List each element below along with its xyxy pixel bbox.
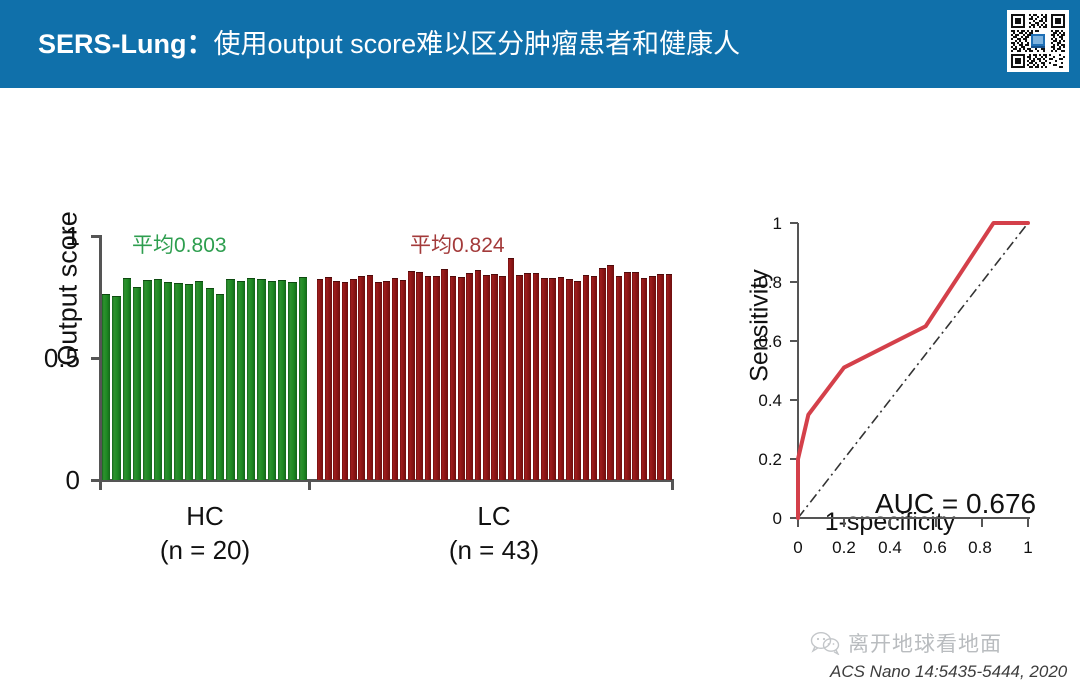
roc-chance-diagonal	[798, 223, 1028, 518]
bar-lc-26	[533, 273, 540, 480]
bar-lc-17	[458, 277, 465, 480]
bar-lc-29	[558, 277, 565, 480]
watermark-row: 离开地球看地面	[810, 628, 1002, 658]
bar-lc-20	[483, 275, 490, 480]
bar-ytick-label-1: 1	[40, 221, 80, 252]
bar-lc-12	[416, 272, 423, 480]
group-label-hc: HC (n = 20)	[102, 499, 308, 567]
bar-lc-30	[566, 279, 573, 480]
bar-lc-9	[392, 278, 399, 480]
wechat-icon	[810, 631, 840, 655]
bar-lc-14	[433, 276, 440, 480]
bar-lc-36	[616, 276, 623, 480]
bar-chart-plot-area	[101, 235, 673, 480]
header-banner: SERS-Lung：使用output score难以区分肿瘤患者和健康人	[0, 0, 1080, 88]
mean-label-hc: 平均0.803	[132, 229, 227, 259]
bar-lc-15	[441, 269, 448, 480]
bar-lc-38	[632, 272, 639, 480]
bar-lc-21	[491, 274, 498, 480]
bar-ytick-mark-1	[91, 235, 100, 238]
page-title-kicker: SERS-Lung：	[38, 29, 214, 59]
bar-hc-5	[154, 279, 162, 480]
bar-hc-11	[216, 294, 224, 480]
bar-lc-28	[549, 278, 556, 480]
bar-hc-1	[112, 296, 120, 480]
bar-hc-0	[102, 294, 110, 480]
bar-lc-41	[657, 274, 664, 480]
bar-hc-3	[133, 287, 141, 480]
bar-hc-12	[226, 279, 234, 480]
bar-lc-2	[333, 281, 340, 480]
bar-lc-23	[508, 258, 515, 480]
qr-code-image	[1009, 12, 1067, 70]
group-label-hc-count: (n = 20)	[102, 533, 308, 567]
bar-lc-13	[425, 276, 432, 480]
bar-xtick-mark-left	[99, 479, 102, 490]
roc-curve-chart: Sensitivity 1-specificity 1 0.8 0.6 0.4 …	[700, 143, 1070, 603]
mean-label-lc: 平均0.824	[410, 229, 505, 259]
bar-lc-4	[350, 279, 357, 480]
bar-hc-19	[299, 277, 307, 480]
citation-text: ACS Nano 14:5435-5444, 2020	[830, 662, 1067, 682]
bar-lc-35	[607, 265, 614, 480]
bar-hc-4	[143, 280, 151, 480]
bar-hc-2	[123, 278, 131, 480]
bar-xtick-mark-mid	[308, 479, 311, 490]
page-title-rest: 使用output score难以区分肿瘤患者和健康人	[214, 29, 741, 59]
bar-hc-15	[257, 279, 265, 480]
bar-lc-32	[583, 275, 590, 480]
auc-label: AUC = 0.676	[875, 488, 1036, 520]
bar-lc-31	[574, 281, 581, 480]
bar-lc-19	[475, 270, 482, 480]
bar-lc-37	[624, 272, 631, 480]
bar-hc-16	[268, 281, 276, 480]
footer-watermark: 离开地球看地面 ACS Nano 14:5435-5444, 2020	[790, 628, 1070, 690]
bar-hc-18	[288, 282, 296, 480]
bar-hc-13	[237, 281, 245, 480]
bar-hc-8	[185, 284, 193, 480]
bar-hc-7	[174, 283, 182, 480]
bar-hc-14	[247, 278, 255, 480]
group-label-lc-name: LC	[315, 499, 673, 533]
group-label-lc: LC (n = 43)	[315, 499, 673, 567]
output-score-bar-chart: Output score 1 0.5 0 平均0.803 平均0.824 HC …	[20, 143, 700, 573]
page-title: SERS-Lung：使用output score难以区分肿瘤患者和健康人	[38, 20, 968, 68]
bar-lc-40	[649, 276, 656, 480]
bar-hc-6	[164, 282, 172, 480]
bar-lc-33	[591, 276, 598, 480]
bar-lc-7	[375, 282, 382, 480]
bar-lc-16	[450, 276, 457, 480]
bar-lc-22	[499, 276, 506, 480]
group-label-hc-name: HC	[102, 499, 308, 533]
bar-lc-25	[524, 273, 531, 480]
bar-lc-24	[516, 275, 523, 480]
bar-xtick-mark-right	[671, 479, 674, 490]
bar-lc-1	[325, 277, 332, 480]
bar-ytick-label-0.5: 0.5	[20, 343, 80, 374]
watermark-text: 离开地球看地面	[848, 628, 1002, 658]
bar-lc-39	[641, 278, 648, 480]
bar-lc-34	[599, 268, 606, 480]
qr-code[interactable]	[1007, 10, 1069, 72]
bar-ytick-mark-0.5	[91, 357, 100, 360]
group-label-lc-count: (n = 43)	[315, 533, 673, 567]
bar-lc-3	[342, 282, 349, 480]
bar-lc-42	[666, 274, 673, 480]
bar-hc-17	[278, 280, 286, 480]
bar-ytick-label-0: 0	[40, 465, 80, 496]
bar-hc-9	[195, 281, 203, 480]
bar-lc-11	[408, 271, 415, 480]
bar-lc-27	[541, 278, 548, 480]
figure-area: Output score 1 0.5 0 平均0.803 平均0.824 HC …	[0, 88, 1080, 608]
bar-lc-18	[466, 273, 473, 480]
bar-lc-8	[383, 281, 390, 480]
bar-lc-6	[367, 275, 374, 480]
bar-lc-5	[358, 276, 365, 480]
bar-lc-0	[317, 279, 324, 480]
bar-lc-10	[400, 280, 407, 480]
bar-hc-10	[206, 288, 214, 480]
